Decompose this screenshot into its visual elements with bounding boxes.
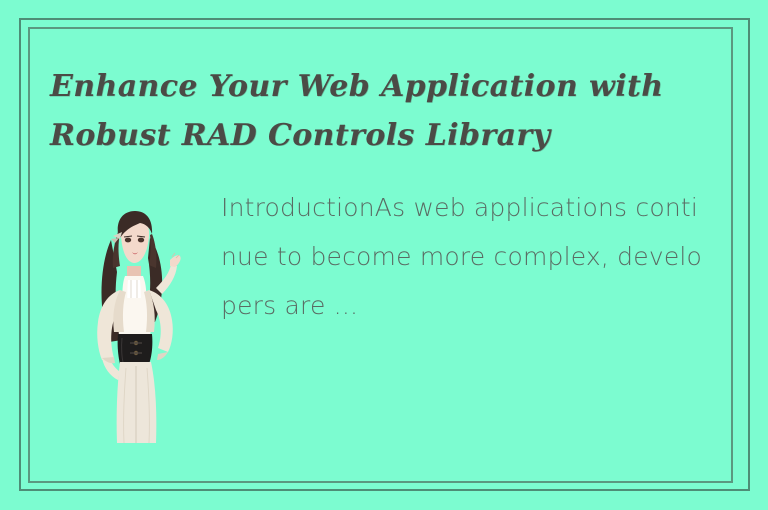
page-title-line-1: Enhance Your Web Application with [50, 69, 664, 104]
article-excerpt: IntroductionAs web applications continue… [221, 183, 707, 330]
anime-woman-illustration [78, 210, 193, 443]
page-title: Enhance Your Web Application with Robust… [50, 62, 670, 160]
page-title-line-2: Robust RAD Controls Library [50, 118, 550, 153]
article-card: Enhance Your Web Application with Robust… [0, 0, 768, 510]
